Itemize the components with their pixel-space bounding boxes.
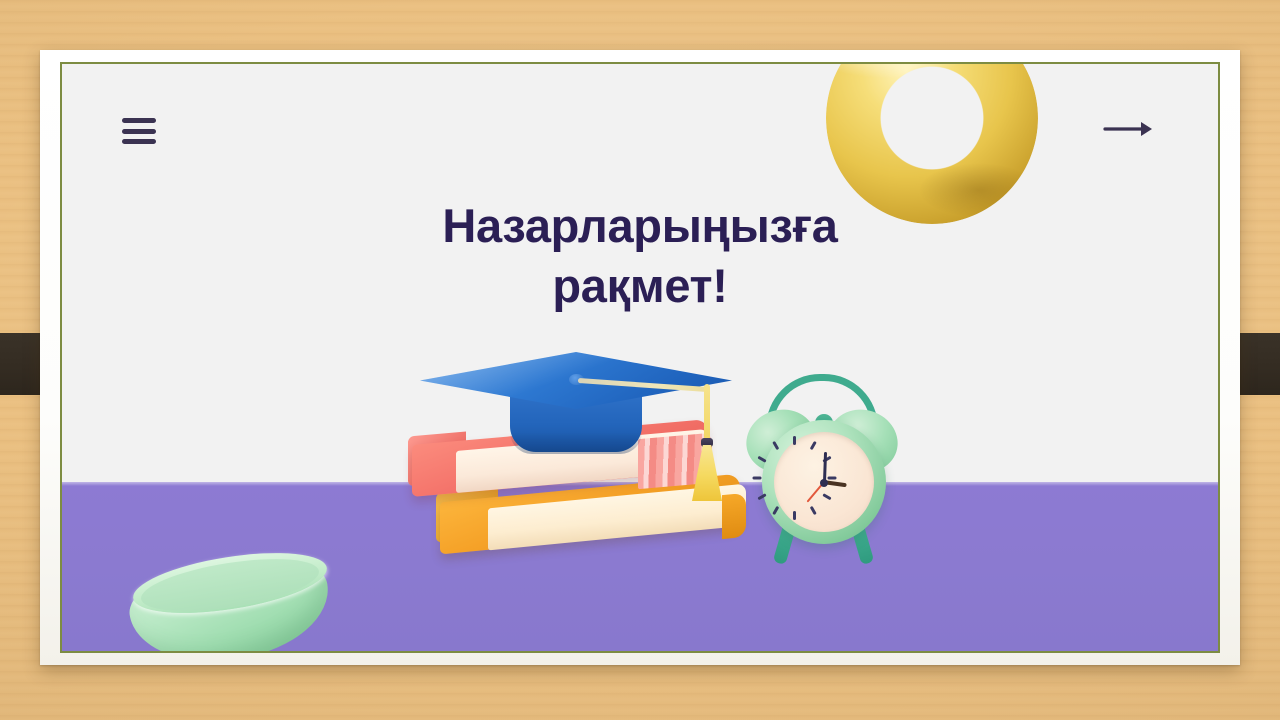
presentation-slide[interactable]: Назарларыңызға рақмет! — [62, 64, 1218, 651]
page-title: Назарларыңызға рақмет! — [62, 196, 1218, 316]
arrow-right-icon[interactable] — [1100, 112, 1156, 146]
clock-tick — [753, 477, 762, 480]
mint-bowl-icon — [130, 559, 330, 651]
clock-tick — [828, 477, 837, 480]
hamburger-bar-2 — [122, 129, 156, 134]
clock-tick — [793, 511, 796, 520]
clock-tick — [793, 436, 796, 445]
orange-book-edge — [722, 493, 746, 539]
tassel-drop — [704, 384, 710, 440]
page-title-line-1: Назарларыңызға — [62, 196, 1218, 256]
page-title-line-2: рақмет! — [62, 256, 1218, 316]
room-backdrop: Назарларыңызға рақмет! — [0, 0, 1280, 720]
hamburger-menu-icon[interactable] — [122, 118, 156, 144]
alarm-clock-icon — [744, 374, 904, 570]
hamburger-bar-1 — [122, 118, 156, 123]
clock-center-pin — [820, 479, 828, 487]
hamburger-bar-3 — [122, 139, 156, 144]
graduation-cap-shading — [510, 432, 642, 454]
graduation-illustration — [392, 346, 892, 586]
